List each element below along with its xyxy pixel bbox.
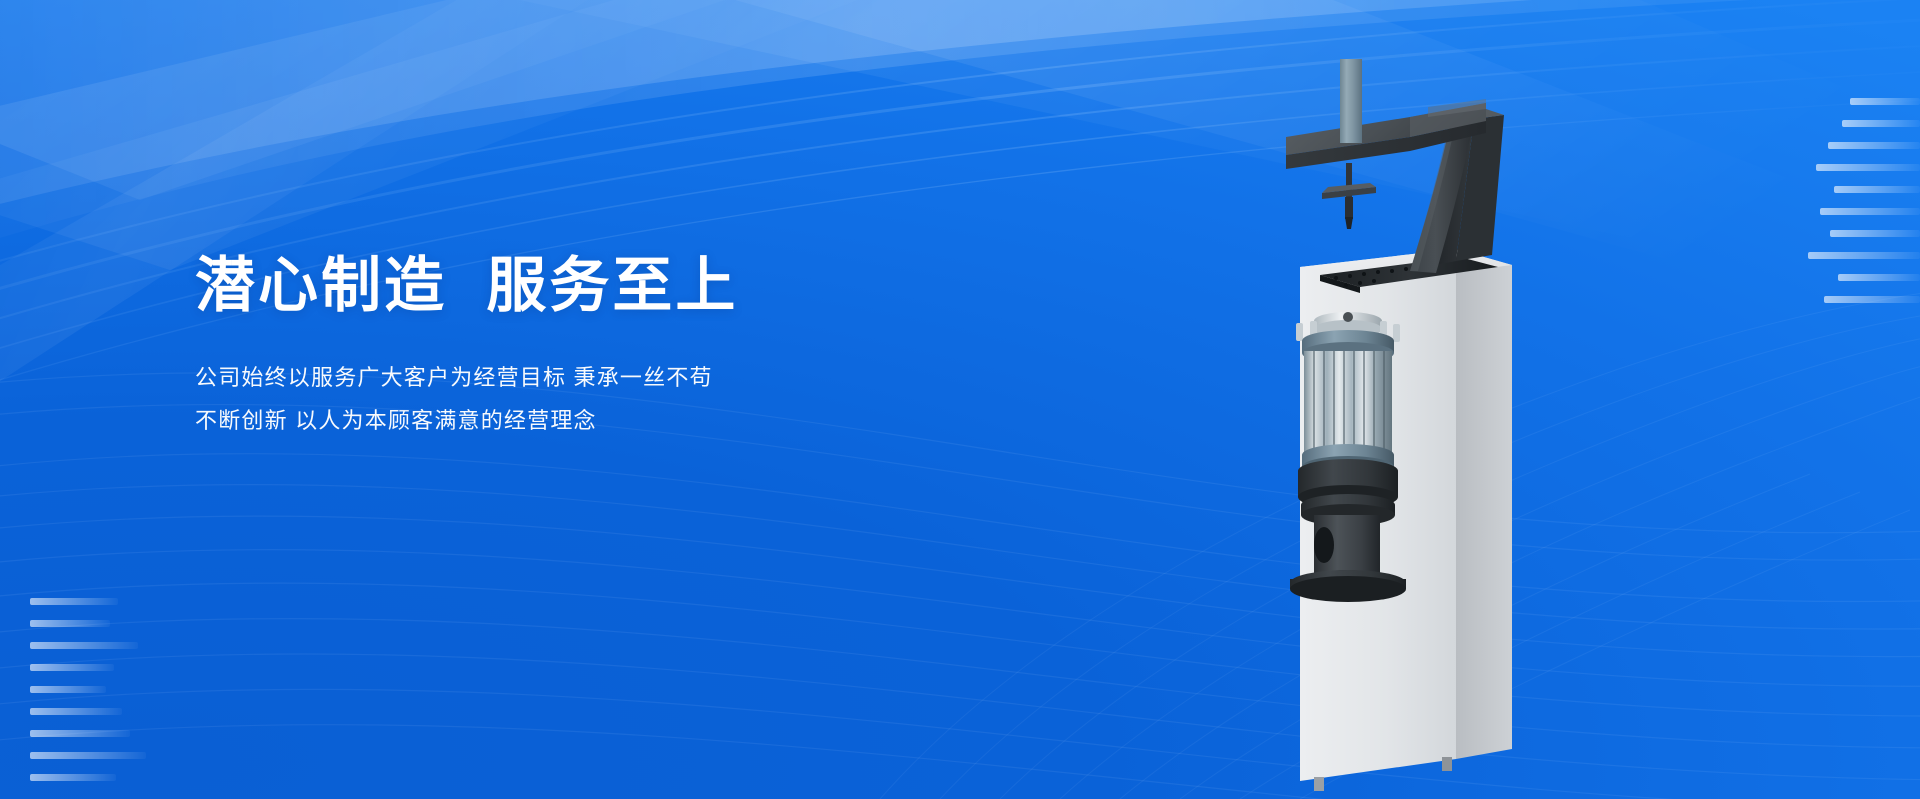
gradient-tick-bar xyxy=(1838,274,1920,281)
tool-spindle xyxy=(1322,163,1376,229)
industrial-press-machine-render xyxy=(1260,59,1620,799)
gradient-tick-bar xyxy=(30,686,106,693)
gradient-tick-bar xyxy=(30,642,138,649)
gradient-tick-bar xyxy=(1850,98,1920,105)
gradient-tick-bar xyxy=(30,752,146,759)
vertical-guide-rod xyxy=(1340,59,1362,143)
gradient-tick-bar xyxy=(1816,164,1920,171)
hero-subtitle: 公司始终以服务广大客户为经营目标 秉承一丝不苟 不断创新 以人为本顾客满意的经营… xyxy=(195,357,1015,443)
gradient-tick-bar xyxy=(30,598,118,605)
gradient-tick-bar xyxy=(30,708,122,715)
gradient-tick-bar xyxy=(1834,186,1920,193)
hero-subtitle-line-1: 公司始终以服务广大客户为经营目标 秉承一丝不苟 xyxy=(195,357,1015,400)
gradient-tick-bar xyxy=(1808,252,1920,259)
gradient-tick-bar xyxy=(1828,142,1920,149)
product-image xyxy=(1260,59,1620,799)
hero-subtitle-line-2: 不断创新 以人为本顾客满意的经营理念 xyxy=(195,400,1015,443)
hero-copy: 潜心制造 服务至上 公司始终以服务广大客户为经营目标 秉承一丝不苟 不断创新 以… xyxy=(195,252,1015,443)
hero-headline: 潜心制造 服务至上 xyxy=(195,252,1015,319)
hero-banner: 潜心制造 服务至上 公司始终以服务广大客户为经营目标 秉承一丝不苟 不断创新 以… xyxy=(0,0,1920,799)
gradient-tick-bar xyxy=(30,774,116,781)
finned-cylinder-head xyxy=(1296,312,1400,478)
gradient-tick-bar xyxy=(1820,208,1920,215)
gradient-tick-bar xyxy=(1830,230,1920,237)
gradient-tick-bar xyxy=(1824,296,1920,303)
gradient-tick-bar xyxy=(30,664,114,671)
gradient-tick-bar xyxy=(1842,120,1920,127)
decor-ticks-left xyxy=(0,598,130,781)
decor-ticks-right xyxy=(1790,98,1920,303)
gradient-tick-bar xyxy=(30,620,110,627)
gradient-tick-bar xyxy=(30,730,130,737)
